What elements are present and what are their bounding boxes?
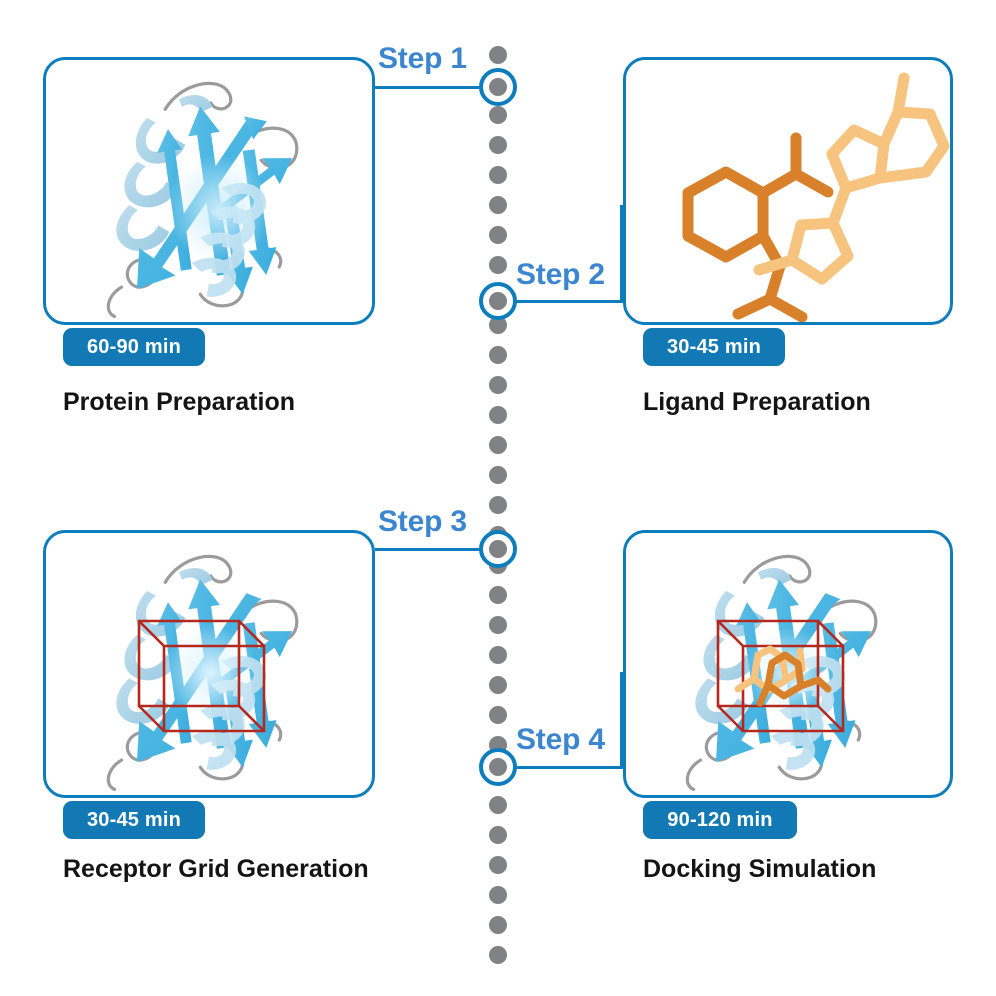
timeline-node-step-3[interactable] xyxy=(479,530,517,568)
timeline-dot xyxy=(489,616,507,634)
timeline-dot xyxy=(489,466,507,484)
timeline-dot xyxy=(489,586,507,604)
card-protein-preparation[interactable] xyxy=(43,57,375,325)
timeline-dot xyxy=(489,946,507,964)
timeline-dot xyxy=(489,826,507,844)
timeline-node-step-2[interactable] xyxy=(479,282,517,320)
timeline-dot xyxy=(489,406,507,424)
timeline-node-step-4[interactable] xyxy=(479,748,517,786)
caption-step-2: Ligand Preparation xyxy=(643,388,871,417)
timeline-dot xyxy=(489,376,507,394)
timeline-dot xyxy=(489,676,507,694)
step-label-4: Step 4 xyxy=(516,723,605,757)
step-label-3: Step 3 xyxy=(378,505,467,539)
timeline-dot xyxy=(489,256,507,274)
card-docking-simulation[interactable] xyxy=(623,530,953,798)
timeline-dot xyxy=(489,886,507,904)
timeline-dot xyxy=(489,646,507,664)
protein-ribbon-icon xyxy=(46,60,372,322)
caption-step-1: Protein Preparation xyxy=(63,388,295,417)
timeline-dot xyxy=(489,226,507,244)
step-label-1: Step 1 xyxy=(378,42,467,76)
connector-step-1 xyxy=(375,86,491,89)
timeline-dot xyxy=(489,196,507,214)
timeline-node-core xyxy=(489,292,507,310)
timeline-dot xyxy=(489,916,507,934)
ligand-molecules-icon xyxy=(626,60,950,322)
card-receptor-grid-generation[interactable] xyxy=(43,530,375,798)
timeline-node-core xyxy=(489,540,507,558)
timeline-node-core xyxy=(489,78,507,96)
timeline-dot xyxy=(489,436,507,454)
connector-step-4 xyxy=(505,766,623,769)
timeline-dot xyxy=(489,136,507,154)
timeline-dot xyxy=(489,706,507,724)
connector-step-3 xyxy=(375,548,491,551)
timeline-dot xyxy=(489,346,507,364)
timeline-dotted-line xyxy=(489,46,507,954)
connector-step-2 xyxy=(505,300,623,303)
protein-with-grid-box-icon xyxy=(46,533,372,795)
timeline-dot xyxy=(489,496,507,514)
timeline-dot xyxy=(489,856,507,874)
timeline-node-core xyxy=(489,758,507,776)
duration-badge-step-4: 90-120 min xyxy=(643,801,797,839)
timeline-dot xyxy=(489,796,507,814)
workflow-diagram: Step 1 Step 2 Step 3 Step 4 xyxy=(0,0,996,996)
timeline-dot xyxy=(489,106,507,124)
timeline-node-step-1[interactable] xyxy=(479,68,517,106)
timeline-dot xyxy=(489,46,507,64)
timeline-dot xyxy=(489,166,507,184)
caption-step-4: Docking Simulation xyxy=(643,855,876,884)
caption-step-3: Receptor Grid Generation xyxy=(63,855,369,884)
card-ligand-preparation[interactable] xyxy=(623,57,953,325)
duration-badge-step-3: 30-45 min xyxy=(63,801,205,839)
protein-grid-ligand-docked-icon xyxy=(626,533,950,795)
duration-badge-step-2: 30-45 min xyxy=(643,328,785,366)
duration-badge-step-1: 60-90 min xyxy=(63,328,205,366)
step-label-2: Step 2 xyxy=(516,258,605,292)
